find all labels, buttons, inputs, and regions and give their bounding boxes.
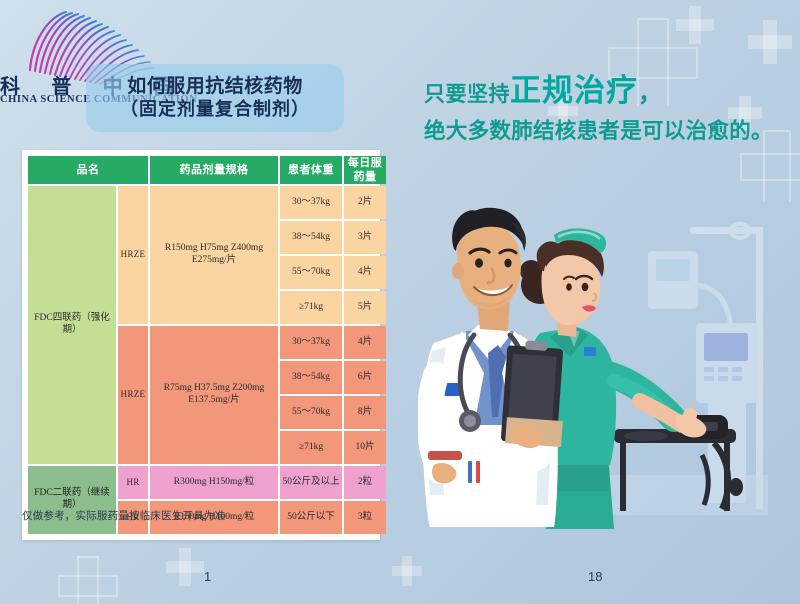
- cross-filled-icon: [748, 20, 792, 64]
- cell-abbreviation: HR: [118, 466, 148, 499]
- cell-amount: 4片: [344, 256, 386, 289]
- table-row: FDC四联药（强化期） HRZE R150mg H75mg Z400mg E27…: [28, 186, 386, 219]
- cell-amount: 3片: [344, 221, 386, 254]
- cell-amount: 4片: [344, 326, 386, 359]
- cell-abbreviation: HRZE: [118, 326, 148, 464]
- illustration-svg: [418, 175, 800, 565]
- page-title-line-1: 如何服用抗结核药物: [127, 76, 303, 98]
- cell-specification: R150mg H75mg Z400mg E275mg/片: [150, 186, 278, 324]
- dosage-table-container: 品名 药品剂量规格 患者体重 每日服药量 FDC四联药（强化期） HRZE R1…: [22, 150, 380, 540]
- dosage-table: 品名 药品剂量规格 患者体重 每日服药量 FDC四联药（强化期） HRZE R1…: [26, 154, 388, 536]
- cell-weight: 55～70kg: [280, 396, 342, 429]
- table-header-daily-dose: 每日服药量: [344, 156, 386, 184]
- headline-line-2: 绝大多数肺结核患者是可以治愈的。: [424, 121, 796, 143]
- page-number-left: 1: [204, 569, 211, 584]
- table-footnote: 仅做参考，实际服药量按临床医生开具为准: [22, 508, 225, 523]
- page-number-right: 18: [588, 569, 602, 584]
- cell-product-name: FDC四联药（强化期）: [28, 186, 116, 464]
- table-header-row: 品名 药品剂量规格 患者体重 每日服药量: [28, 156, 386, 184]
- cell-weight: 38～54kg: [280, 361, 342, 394]
- doctor-nurse-illustration: [418, 175, 800, 565]
- cell-amount: 6片: [344, 361, 386, 394]
- cell-weight: ≥71kg: [280, 291, 342, 324]
- cell-weight: 30～37kg: [280, 326, 342, 359]
- table-header-product-name: 品名: [28, 156, 148, 184]
- cell-weight: 38～54kg: [280, 221, 342, 254]
- cell-amount: 10片: [344, 431, 386, 464]
- page-title: 如何服用抗结核药物 （固定剂量复合制剂）: [86, 64, 344, 132]
- cell-amount: 8片: [344, 396, 386, 429]
- headline: 只要坚持正规治疗， 绝大多数肺结核患者是可以治愈的。: [424, 76, 796, 143]
- cell-weight: ≥71kg: [280, 431, 342, 464]
- cross-filled-icon: [166, 548, 204, 586]
- cell-weight: 50公斤及以上: [280, 466, 342, 499]
- table-header-specification: 药品剂量规格: [150, 156, 278, 184]
- table-row: FDC二联药（继续期） HR R300mg H150mg/粒 50公斤及以上 2…: [28, 466, 386, 499]
- cross-filled-icon: [676, 6, 714, 44]
- cell-product-name: FDC二联药（继续期）: [28, 466, 116, 534]
- cell-weight: 30～37kg: [280, 186, 342, 219]
- headline-comma: ，: [638, 79, 662, 107]
- headline-line-1: 只要坚持正规治疗，: [424, 76, 796, 107]
- cell-amount: 2粒: [344, 466, 386, 499]
- cell-specification: R75mg H37.5mg Z200mg E137.5mg/片: [150, 326, 278, 464]
- cell-weight: 55～70kg: [280, 256, 342, 289]
- cell-weight: 50公斤以下: [280, 501, 342, 534]
- cell-amount: 2片: [344, 186, 386, 219]
- cell-abbreviation: HRZE: [118, 186, 148, 324]
- table-header-patient-weight: 患者体重: [280, 156, 342, 184]
- cross-outline-icon: [58, 556, 114, 604]
- page-title-line-2: （固定剂量复合制剂）: [120, 100, 310, 121]
- cell-specification: R300mg H150mg/粒: [150, 466, 278, 499]
- headline-emphasis: 正规治疗: [510, 73, 638, 109]
- headline-prefix: 只要坚持: [424, 82, 510, 106]
- cell-amount: 5片: [344, 291, 386, 324]
- cell-amount: 3粒: [344, 501, 386, 534]
